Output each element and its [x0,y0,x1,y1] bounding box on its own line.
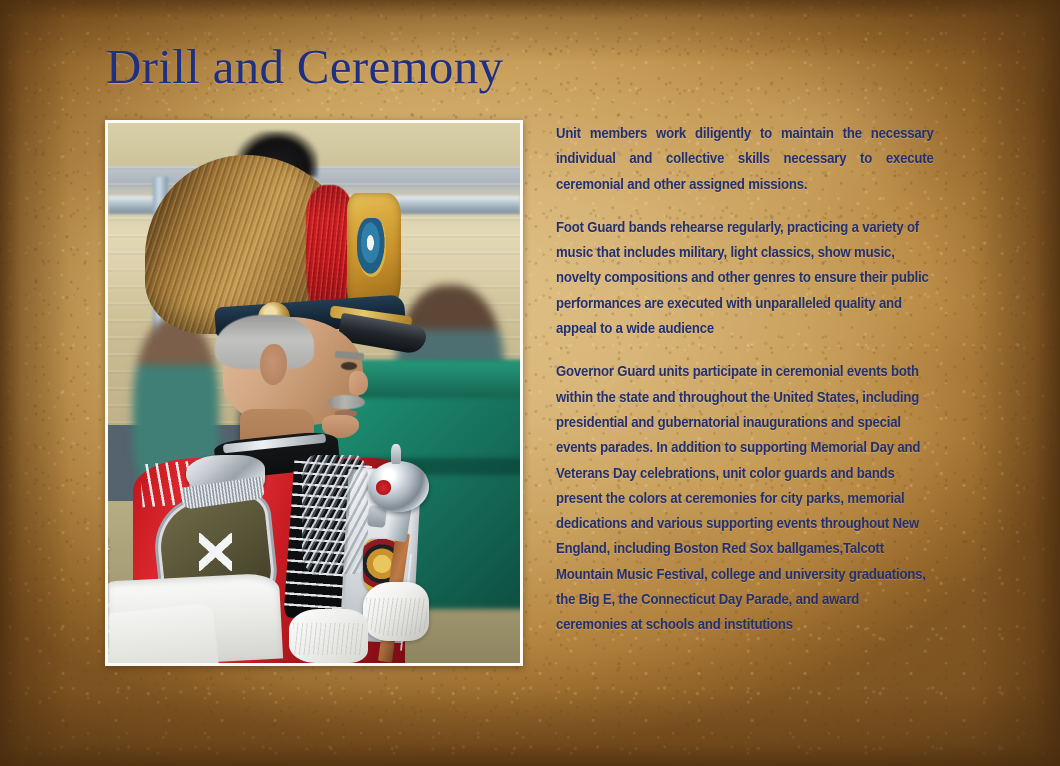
white-glove-upper-seams [366,598,428,636]
photo-frame: Photo credit: Matthew Coffey III [105,120,523,666]
foot-guard-drum-major-photo: Photo credit: Matthew Coffey III [108,123,520,663]
nose [349,371,368,395]
drum-major-figure [108,123,520,663]
body-copy: Unit members work diligently to maintain… [556,122,934,639]
white-cuff [108,603,218,663]
mace-red-accent [376,480,391,494]
mace-finial [391,444,401,463]
moustache [328,395,365,409]
body-paragraph-2: Foot Guard bands rehearse regularly, pra… [556,216,934,342]
white-glove-lower-seams [293,623,363,655]
silver-chest-chains [302,455,368,574]
photo-credit: Photo credit: Matthew Coffey III [108,534,111,657]
page-title: Drill and Ceremony [106,38,503,95]
shako-plate-emblem [357,218,386,277]
body-paragraph-3: Governor Guard units participate in cere… [556,360,934,638]
crossed-bones-device [199,533,232,571]
body-paragraph-1: Unit members work diligently to maintain… [556,122,934,198]
page-root: Drill and Ceremony [0,0,1060,766]
